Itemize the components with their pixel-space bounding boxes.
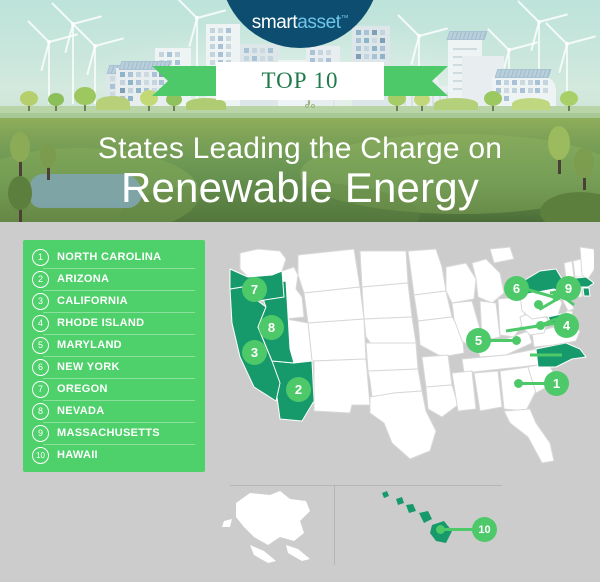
solar-panel-icon [495,69,552,78]
state-label: OREGON [57,383,108,395]
state-rhode-island [583,288,590,296]
solar-panel-icon [447,31,488,40]
rank-badge: 2 [32,271,49,288]
logo-asset-text: asset [297,12,340,33]
state-label: NEW YORK [57,361,120,373]
state-kansas [366,343,418,371]
marker-anchor [512,336,521,345]
top-10-ribbon: TOP 10 [152,62,448,100]
logo-smart-text: smart [252,12,298,33]
state-south-dakota [362,283,412,319]
rank-badge: 5 [32,337,49,354]
marker-badge: 1 [544,371,569,396]
cyclist-icon [305,100,315,108]
state-nebraska [364,317,416,345]
state-texas [370,391,436,459]
state-minnesota [408,249,446,295]
rank-badge: 10 [32,447,49,464]
state-iowa [414,291,452,321]
bush-icon [96,96,130,110]
state-colorado [308,319,366,361]
marker-badge: 4 [554,313,579,338]
state-louisiana [426,385,458,417]
list-item[interactable]: 3CALIFORNIA [23,290,205,312]
state-hawaii [382,491,452,543]
us-map-svg [214,245,594,575]
rank-badge: 9 [32,425,49,442]
list-item[interactable]: 6NEW YORK [23,356,205,378]
list-item[interactable]: 10HAWAII [23,444,205,466]
rank-badge: 1 [32,249,49,266]
tree-icon [560,91,578,111]
list-item[interactable]: 8NEVADA [23,400,205,422]
rank-badge: 8 [32,403,49,420]
list-item[interactable]: 7OREGON [23,378,205,400]
rank-badge: 4 [32,315,49,332]
ribbon-panel: TOP 10 [216,62,384,100]
marker-badge: 6 [504,276,529,301]
tree-icon [48,93,64,111]
state-wisconsin [446,263,476,303]
state-label: NEVADA [57,405,104,417]
infographic-root: smartasset™ TOP 10 States Leading [0,0,600,582]
state-label: RHODE ISLAND [57,317,144,329]
rank-badge: 6 [32,359,49,376]
top-states-list: 1NORTH CAROLINA2ARIZONA3CALIFORNIA4RHODE… [23,240,205,472]
marker-badge: 5 [466,328,491,353]
state-alaska [222,491,310,563]
marker-badge: 7 [242,277,267,302]
state-alabama [474,371,502,411]
logo-trademark: ™ [341,14,349,23]
state-maine [580,247,594,279]
rank-badge: 7 [32,381,49,398]
marker-leader [442,528,474,531]
bush-icon [512,98,550,110]
title-band: States Leading the Charge on Renewable E… [0,118,600,222]
marker-badge: 10 [472,517,497,542]
list-item[interactable]: 4RHODE ISLAND [23,312,205,334]
state-north-dakota [360,251,408,287]
marker-leader [520,382,546,385]
list-item[interactable]: 9MASSACHUSETTS [23,422,205,444]
list-item[interactable]: 1NORTH CAROLINA [23,246,205,268]
state-arkansas [422,355,452,387]
state-label: MASSACHUSETTS [57,427,160,439]
page-title-line2: Renewable Energy [0,164,600,212]
state-label: MARYLAND [57,339,122,351]
logo-wordmark: smartasset™ [252,12,349,34]
ribbon-label: TOP 10 [262,68,339,94]
tree-icon [74,87,96,111]
state-label: ARIZONA [57,273,109,285]
inset-divider-horizontal [230,485,502,486]
state-label: CALIFORNIA [57,295,128,307]
state-label: NORTH CAROLINA [57,251,161,263]
marker-badge: 3 [242,340,267,365]
inset-divider-vertical [334,485,335,565]
us-map: 1 2 3 4 5 6 7 8 [214,245,594,575]
state-new-mexico [314,359,370,413]
tree-icon [20,91,38,111]
rank-badge: 3 [32,293,49,310]
state-montana [298,249,360,293]
tree-icon [484,91,502,111]
marker-badge: 9 [556,276,581,301]
marker-badge: 8 [259,315,284,340]
list-item[interactable]: 5MARYLAND [23,334,205,356]
state-wyoming [304,287,364,323]
marker-badge: 2 [286,377,311,402]
page-title-line1: States Leading the Charge on [0,132,600,166]
state-florida [504,409,554,463]
state-label: HAWAII [57,449,98,461]
list-item[interactable]: 2ARIZONA [23,268,205,290]
